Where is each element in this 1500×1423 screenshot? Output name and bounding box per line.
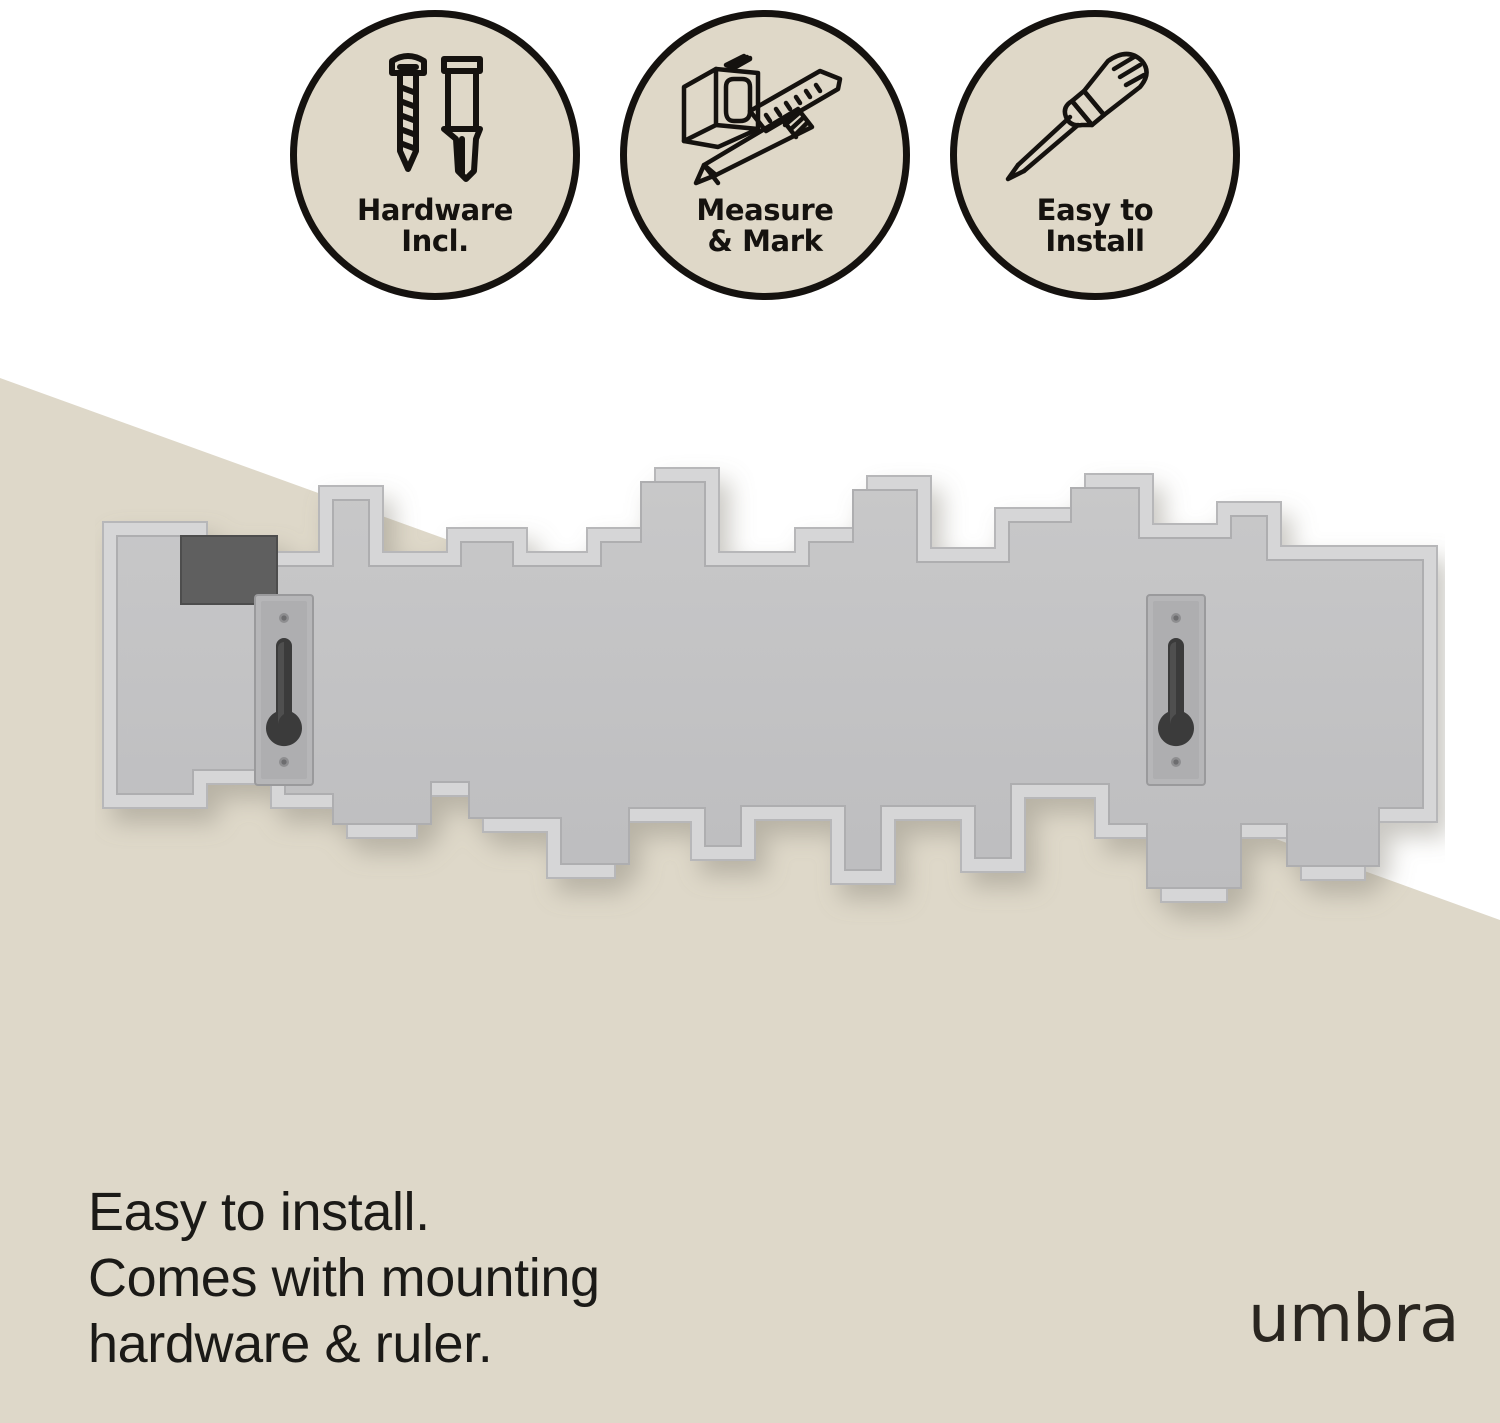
brand-logo: umbra xyxy=(1248,1286,1459,1352)
badge-easy-to-install: Easy to Install xyxy=(950,10,1240,300)
product-svg xyxy=(95,440,1445,940)
keyhole-bracket-left xyxy=(255,595,313,785)
product-image xyxy=(95,440,1445,940)
keyhole-slot-highlight xyxy=(1170,642,1176,724)
badge-label-line1: Measure xyxy=(696,195,833,226)
badge-label-line2: & Mark xyxy=(696,226,833,257)
headline-line-3: hardware & ruler. xyxy=(88,1312,600,1378)
screwdriver-icon xyxy=(1000,43,1190,193)
badge-label-line1: Easy to xyxy=(1037,195,1154,226)
headline-line-1: Easy to install. xyxy=(88,1180,600,1246)
badge-label-line2: Install xyxy=(1037,226,1154,257)
screw-and-anchor-icon xyxy=(340,43,530,193)
badge-label: Measure & Mark xyxy=(696,195,833,258)
tape-measure-and-pencil-icon xyxy=(670,43,860,193)
badge-hardware-included: Hardware Incl. xyxy=(290,10,580,300)
keyhole-bracket-right xyxy=(1147,595,1205,785)
bracket-screw-hole-top-center xyxy=(281,615,286,620)
bracket-screw-hole-bottom-center xyxy=(1173,759,1178,764)
bracket-screw-hole-top-center xyxy=(1173,615,1178,620)
badge-label-line2: Incl. xyxy=(357,226,513,257)
headline-line-2: Comes with mounting xyxy=(88,1246,600,1312)
product-marketing-image: Hardware Incl. xyxy=(0,0,1500,1423)
badge-measure-and-mark: Measure & Mark xyxy=(620,10,910,300)
keyhole-slot-highlight xyxy=(278,642,284,724)
product-recess-notch xyxy=(181,536,277,604)
headline: Easy to install. Comes with mounting har… xyxy=(88,1180,600,1378)
badge-label-line1: Hardware xyxy=(357,195,513,226)
badge-label: Hardware Incl. xyxy=(357,195,513,258)
bracket-screw-hole-bottom-center xyxy=(281,759,286,764)
feature-badges: Hardware Incl. xyxy=(290,10,1240,300)
badge-label: Easy to Install xyxy=(1037,195,1154,258)
